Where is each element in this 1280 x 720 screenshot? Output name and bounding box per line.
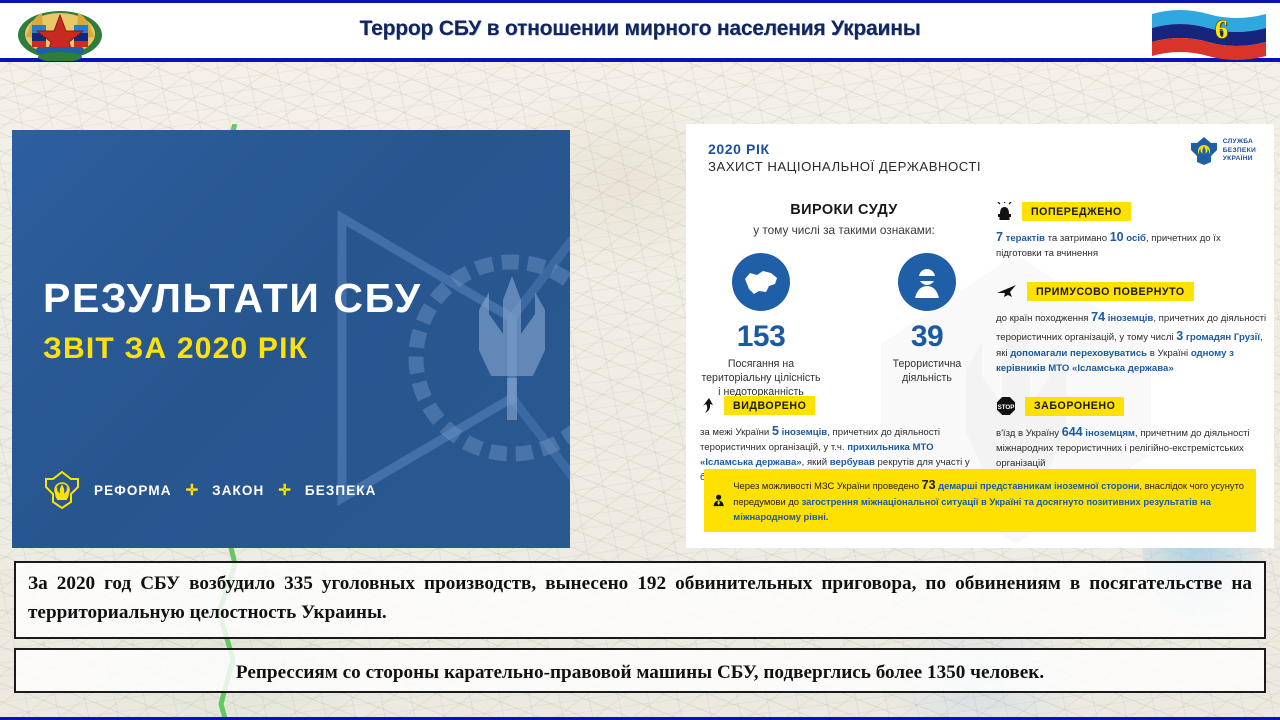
motto-reform: РЕФОРМА: [94, 483, 172, 498]
block-header: ВИДВОРЕНО: [700, 396, 982, 415]
page-title: Террор СБУ в отношении мирного населения…: [0, 17, 1280, 41]
motto-separator-2: ✛: [278, 481, 291, 499]
block-badge: ПОПЕРЕДЖЕНО: [1022, 202, 1131, 221]
cover-title: РЕЗУЛЬТАТИ СБУ: [43, 275, 422, 322]
verdicts-title: ВИРОКИ СУДУ: [698, 202, 990, 218]
masked-person-icon: [912, 266, 942, 298]
stat-icon-circle: [732, 253, 790, 311]
block-header: ПРИМУСОВО ПОВЕРНУТО: [996, 282, 1268, 301]
ukraine-map-icon: [742, 267, 780, 297]
block-body: в'їзд в Україну 644 іноземцям, причетним…: [996, 423, 1264, 472]
cover-footer-motto: РЕФОРМА ✛ ЗАКОН ✛ БЕЗПЕКА: [44, 470, 376, 510]
infographic-subtitle: ЗАХИСТ НАЦІОНАЛЬНОЇ ДЕРЖАВНОСТІ: [708, 159, 981, 174]
header-bar: Террор СБУ в отношении мирного населения…: [0, 0, 1280, 62]
block-prymusovo-povernuto: ПРИМУСОВО ПОВЕРНУТО до країн походження …: [996, 282, 1268, 376]
motto-security: БЕЗПЕКА: [305, 483, 377, 498]
sbu-logo-text: СЛУЖБА БЕЗПЕКИ УКРАЇНИ: [1223, 138, 1256, 165]
cover-subtitle: ЗВІТ ЗА 2020 РІК: [43, 332, 308, 366]
sbu-small-cross-icon: [44, 470, 80, 510]
motto-law: ЗАКОН: [212, 483, 264, 498]
block-zaboroneno: STOP ЗАБОРОНЕНО в'їзд в Україну 644 іноз…: [996, 396, 1264, 472]
stat-value: 153: [701, 320, 821, 354]
mfa-demarches-strip: Через можливості МЗС України проведено 7…: [704, 469, 1256, 532]
sbu-emblem-icon: [1190, 136, 1218, 166]
lnr-flag-icon: [1150, 8, 1268, 60]
block-header: STOP ЗАБОРОНЕНО: [996, 396, 1264, 416]
diplomat-person-icon: [713, 487, 724, 513]
stop-sign-icon: STOP: [996, 396, 1016, 416]
infographic-year: 2020 РІК: [708, 141, 770, 157]
caption-box-primary: За 2020 год СБУ возбудило 335 уголовных …: [14, 561, 1266, 639]
stat-caption: Терористична діяльність: [867, 357, 987, 385]
caption-text-1: За 2020 год СБУ возбудило 335 уголовных …: [16, 563, 1264, 627]
sbu-infographic-panel: 2020 РІК ЗАХИСТ НАЦІОНАЛЬНОЇ ДЕРЖАВНОСТІ…: [686, 124, 1274, 548]
alarm-siren-icon: [996, 202, 1013, 221]
block-body: 7 терактів та затримано 10 осіб, причетн…: [996, 228, 1262, 262]
slide-page-number: 6: [1215, 15, 1228, 45]
block-body: до країн походження 74 іноземців, причет…: [996, 308, 1268, 376]
slide-root: Террор СБУ в отношении мирного населения…: [0, 0, 1280, 720]
block-badge: ЗАБОРОНЕНО: [1025, 397, 1124, 416]
boot-kick-icon: [700, 397, 715, 415]
sbu-logo: СЛУЖБА БЕЗПЕКИ УКРАЇНИ: [1190, 136, 1256, 166]
court-verdicts-section: ВИРОКИ СУДУ у тому числі за такими ознак…: [698, 202, 990, 413]
sbu-logo-line-1: СЛУЖБА: [1223, 138, 1256, 147]
block-badge: ПРИМУСОВО ПОВЕРНУТО: [1027, 282, 1194, 301]
svg-text:STOP: STOP: [998, 404, 1015, 411]
verdicts-subtitle: у тому числі за такими ознаками:: [698, 223, 990, 237]
airplane-icon: [996, 284, 1018, 299]
stat-value: 39: [867, 320, 987, 354]
motto-separator-1: ✛: [186, 481, 199, 499]
stat-territorial-integrity: 153 Посягання на територіальну цілісніст…: [701, 253, 821, 413]
block-header: ПОПЕРЕДЖЕНО: [996, 202, 1262, 221]
block-badge: ВИДВОРЕНО: [724, 396, 815, 415]
block-poperedzheno: ПОПЕРЕДЖЕНО 7 терактів та затримано 10 о…: [996, 202, 1262, 262]
caption-text-2: Репрессиям со стороны карательно-правово…: [16, 650, 1264, 687]
sbu-logo-line-3: УКРАЇНИ: [1223, 155, 1256, 164]
caption-box-secondary: Репрессиям со стороны карательно-правово…: [14, 648, 1266, 693]
stat-terrorist-activity: 39 Терористична діяльність: [867, 253, 987, 413]
verdicts-stats: 153 Посягання на територіальну цілісніст…: [698, 253, 990, 413]
mfa-strip-text: Через можливості МЗС України проведено 7…: [733, 476, 1245, 525]
stat-icon-circle: [898, 253, 956, 311]
sbu-report-cover-panel: РЕЗУЛЬТАТИ СБУ ЗВІТ ЗА 2020 РІК РЕФОРМА …: [12, 130, 570, 548]
